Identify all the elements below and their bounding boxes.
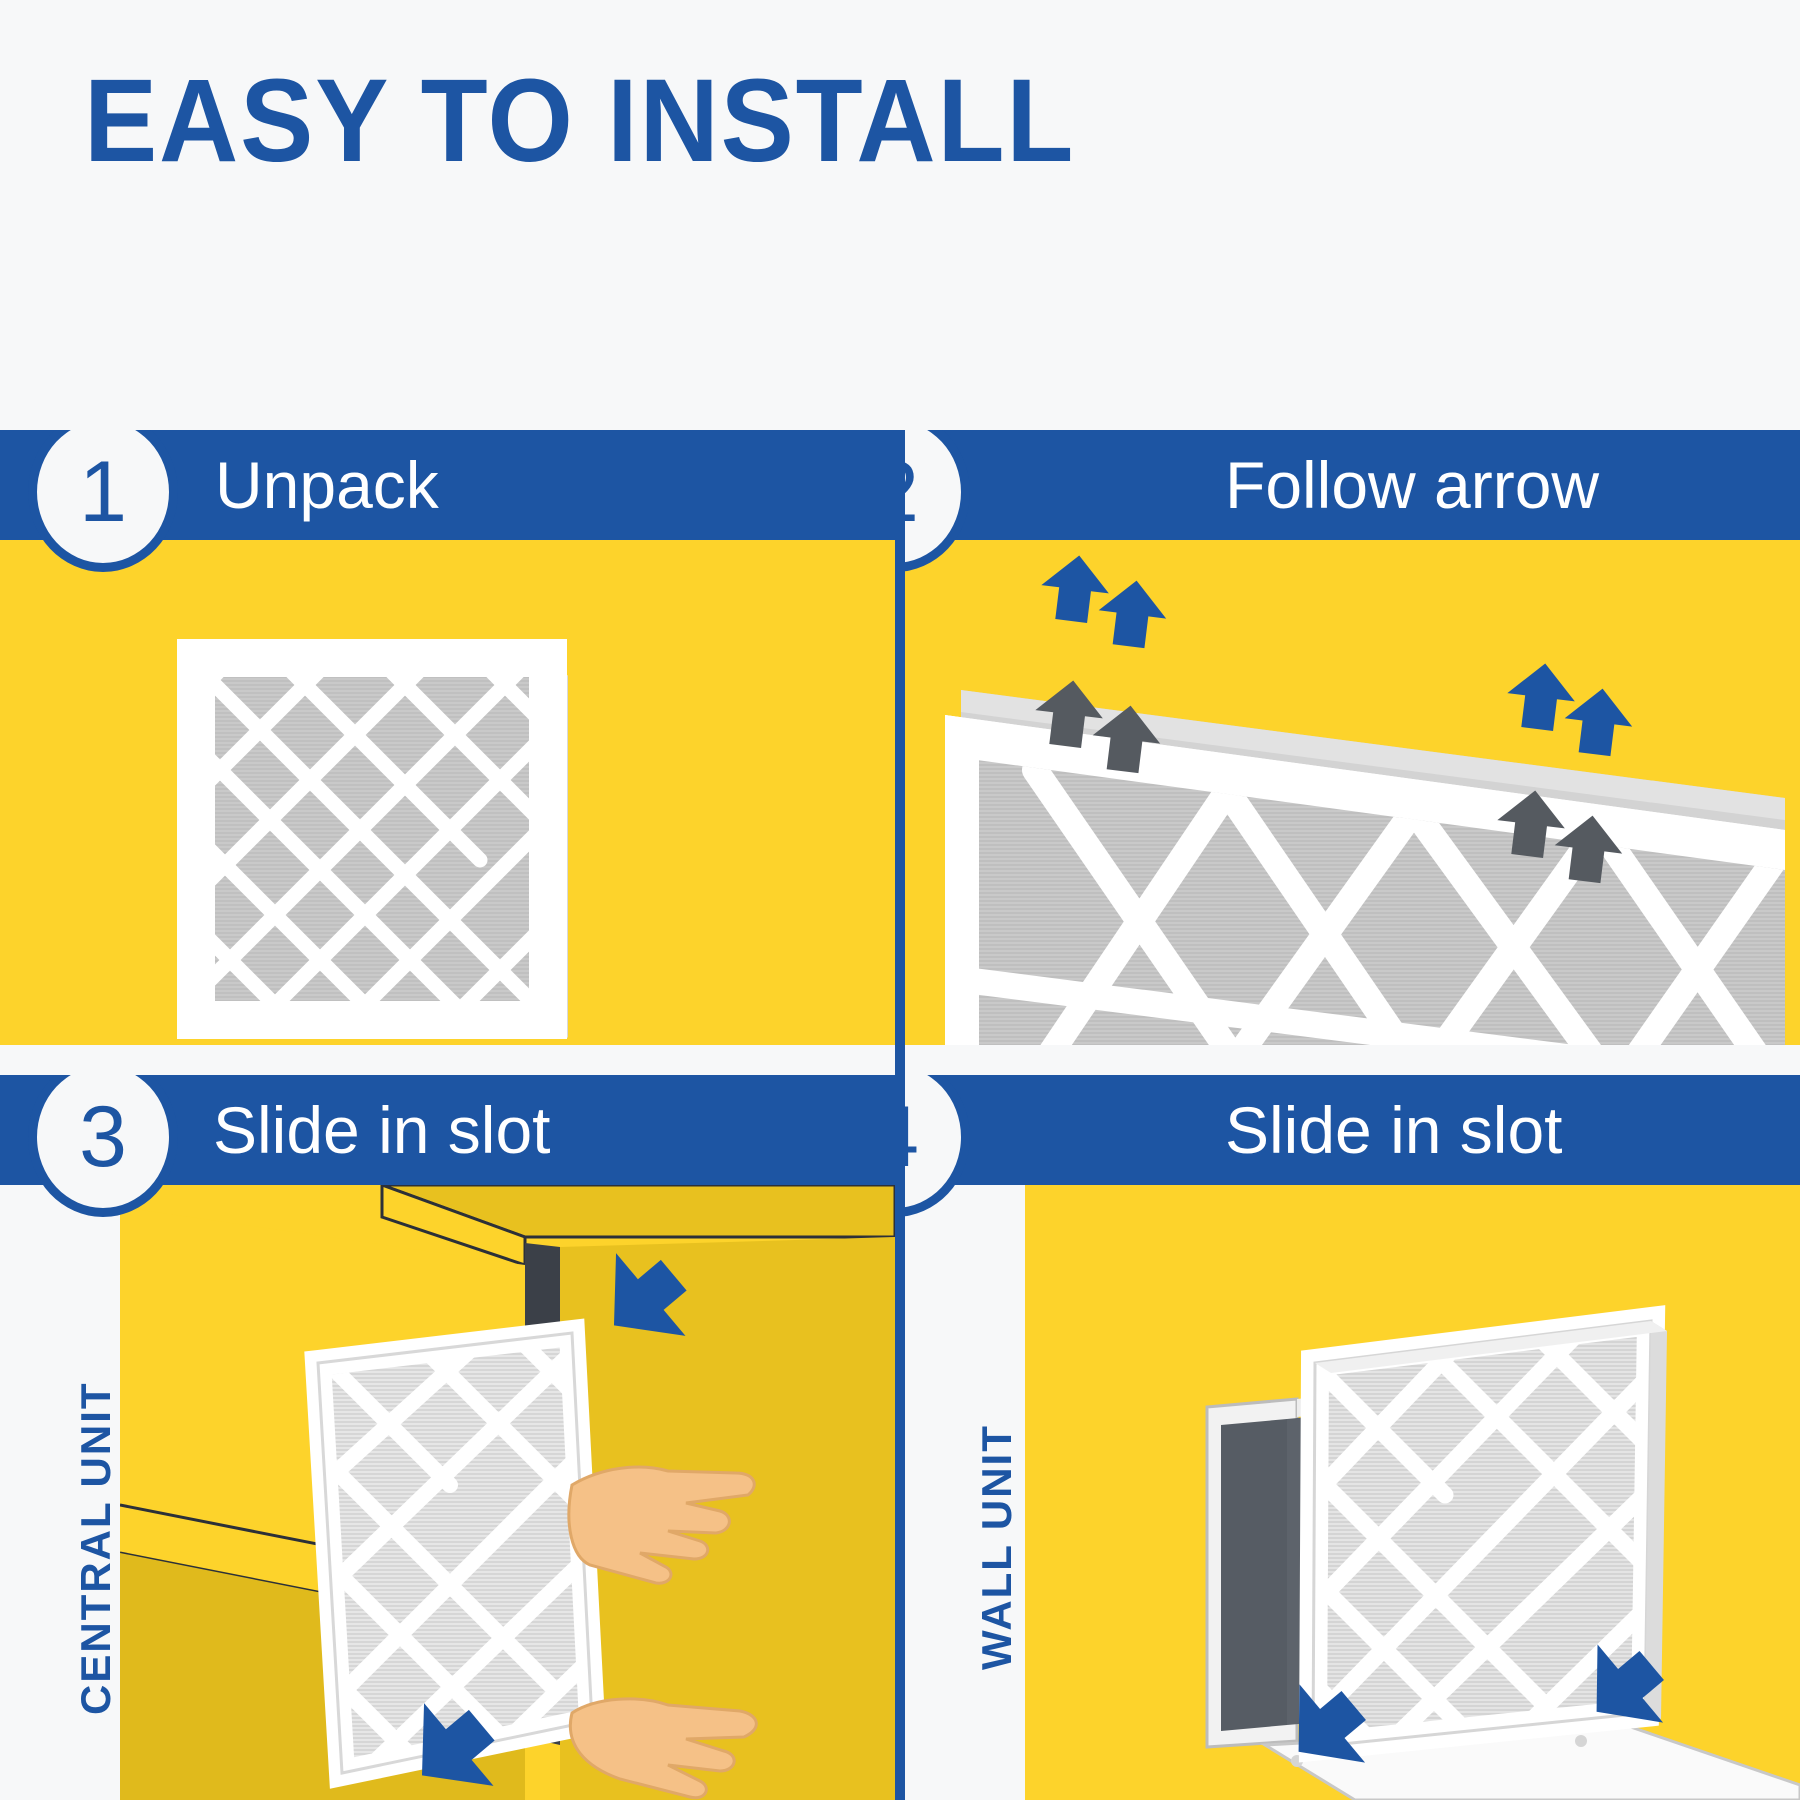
step-panel-central-unit: Slide in slot 3 CENTRAL UNIT	[0, 1075, 895, 1800]
wall-vent-icon	[1025, 1185, 1800, 1800]
step-2-illustration	[905, 540, 1800, 1045]
step-4-number: 4	[905, 1088, 919, 1187]
step-4-side-label: WALL UNIT	[973, 1424, 1021, 1670]
step-3-number: 3	[79, 1088, 127, 1187]
step-panel-follow-arrow: Follow arrow 2	[905, 430, 1800, 1045]
step-1-illustration	[0, 540, 895, 1045]
step-panel-unpack: Unpack 1	[0, 430, 895, 1045]
step-4-label: Slide in slot	[1225, 1092, 1563, 1168]
step-2-header: Follow arrow	[905, 430, 1800, 540]
column-divider	[895, 430, 905, 1800]
step-2-number: 2	[905, 443, 919, 542]
airflow-arrow-blue-icon	[1035, 551, 1172, 650]
step-3-label: Slide in slot	[213, 1092, 551, 1168]
step-4-illustration	[1025, 1185, 1800, 1800]
step-1-label: Unpack	[215, 447, 439, 523]
step-2-label: Follow arrow	[1225, 447, 1599, 523]
step-4-header: Slide in slot	[905, 1075, 1800, 1185]
step-panel-wall-unit: Slide in slot 4 WALL UNIT	[905, 1075, 1800, 1800]
central-unit-icon	[120, 1185, 895, 1800]
step-3-side-label: CENTRAL UNIT	[72, 1381, 120, 1715]
step-3-illustration	[120, 1185, 895, 1800]
air-filter-icon	[0, 540, 895, 1045]
step-1-number: 1	[79, 443, 127, 542]
page-title: EASY TO INSTALL	[84, 62, 1075, 180]
